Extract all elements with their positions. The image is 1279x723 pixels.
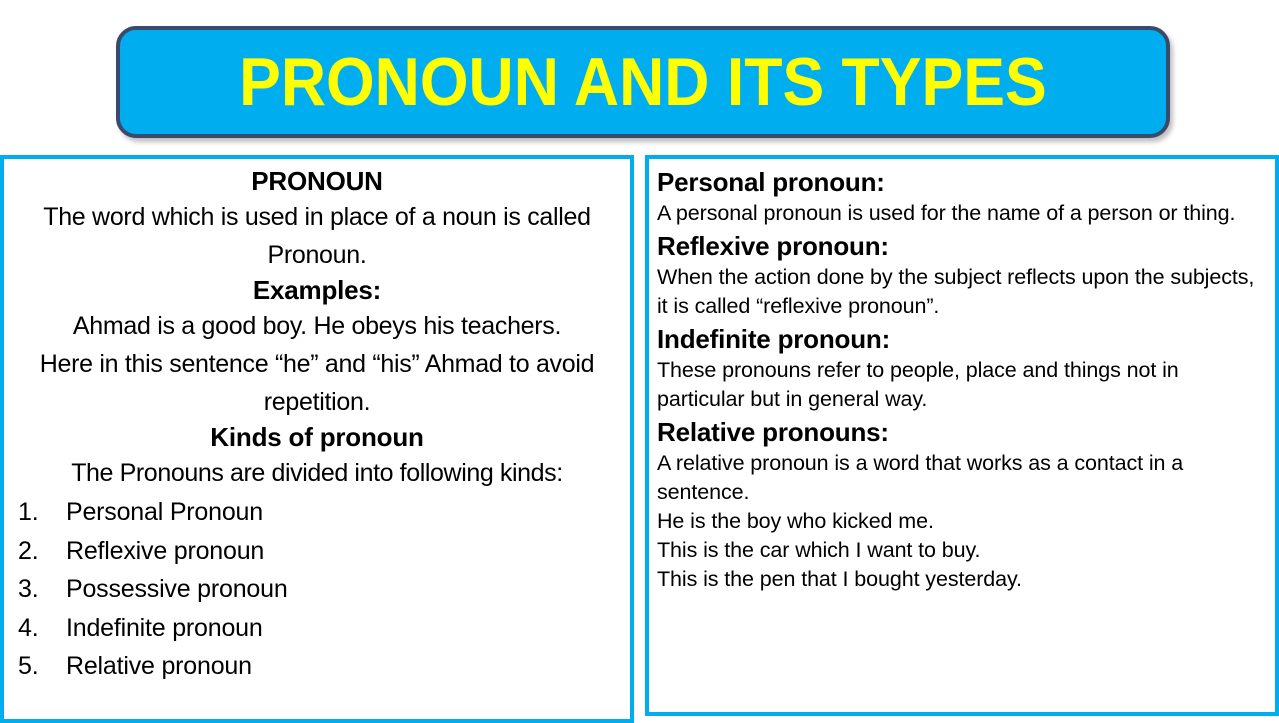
section-example: This is the pen that I bought yesterday. (657, 565, 1269, 594)
kinds-of-pronoun-heading: Kinds of pronoun (12, 421, 622, 454)
section-heading: Reflexive pronoun: (657, 229, 1269, 263)
list-item-label: Relative pronoun (66, 647, 622, 686)
section-heading: Relative pronouns: (657, 415, 1269, 449)
section-example: He is the boy who kicked me. (657, 507, 1269, 536)
list-item: 1. Personal Pronoun (12, 493, 622, 532)
section-body: When the action done by the subject refl… (657, 263, 1269, 321)
list-item-number: 4. (18, 609, 66, 648)
list-item-label: Possessive pronoun (66, 570, 622, 609)
relative-pronoun-section: Relative pronouns: A relative pronoun is… (657, 415, 1269, 594)
section-heading: Personal pronoun: (657, 165, 1269, 199)
indefinite-pronoun-section: Indefinite pronoun: These pronouns refer… (657, 322, 1269, 414)
title-banner: PRONOUN AND ITS TYPES (116, 26, 1170, 138)
kinds-intro-text: The Pronouns are divided into following … (12, 454, 622, 493)
list-item-label: Indefinite pronoun (66, 609, 622, 648)
list-item: 2. Reflexive pronoun (12, 532, 622, 571)
personal-pronoun-section: Personal pronoun: A personal pronoun is … (657, 165, 1269, 228)
example-line-1: Ahmad is a good boy. He obeys his teache… (12, 307, 622, 345)
section-heading: Indefinite pronoun: (657, 322, 1269, 356)
list-item-label: Personal Pronoun (66, 493, 622, 532)
kinds-of-pronoun-list: 1. Personal Pronoun 2. Reflexive pronoun… (12, 493, 622, 686)
page-title: PRONOUN AND ITS TYPES (239, 47, 1047, 117)
left-panel-heading: PRONOUN (12, 165, 622, 198)
list-item-label: Reflexive pronoun (66, 532, 622, 571)
section-body: A relative pronoun is a word that works … (657, 449, 1269, 507)
list-item-number: 5. (18, 647, 66, 686)
section-body: These pronouns refer to people, place an… (657, 356, 1269, 414)
right-panel: Personal pronoun: A personal pronoun is … (645, 155, 1279, 716)
list-item: 3. Possessive pronoun (12, 570, 622, 609)
example-line-2: Here in this sentence “he” and “his” Ahm… (12, 345, 622, 421)
section-example: This is the car which I want to buy. (657, 536, 1269, 565)
list-item-number: 2. (18, 532, 66, 571)
pronoun-definition: The word which is used in place of a nou… (12, 198, 622, 274)
list-item-number: 3. (18, 570, 66, 609)
reflexive-pronoun-section: Reflexive pronoun: When the action done … (657, 229, 1269, 321)
left-panel: PRONOUN The word which is used in place … (0, 155, 634, 723)
list-item: 5. Relative pronoun (12, 647, 622, 686)
list-item: 4. Indefinite pronoun (12, 609, 622, 648)
list-item-number: 1. (18, 493, 66, 532)
infographic-page: PRONOUN AND ITS TYPES PRONOUN The word w… (0, 0, 1279, 720)
examples-heading: Examples: (12, 274, 622, 307)
section-body: A personal pronoun is used for the name … (657, 199, 1269, 228)
